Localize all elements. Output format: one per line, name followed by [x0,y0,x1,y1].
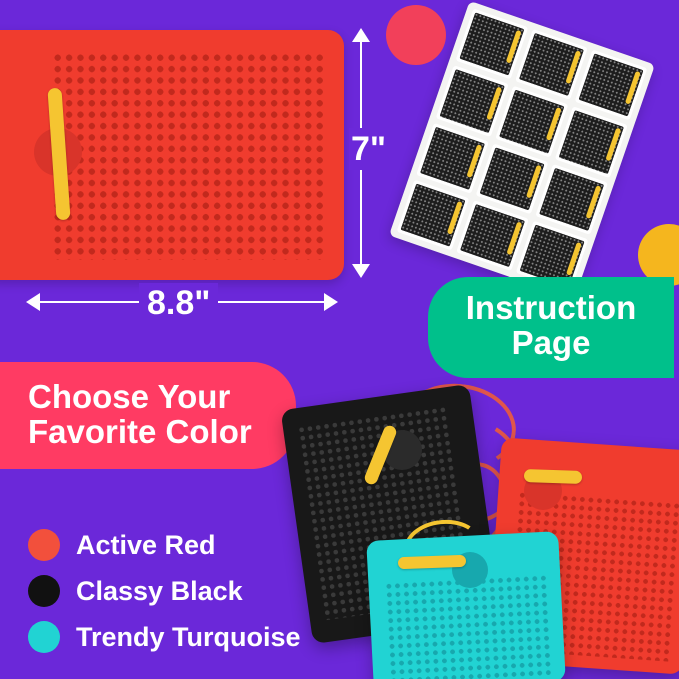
dimension-width-label: 8.8" [139,283,218,324]
color-legend: Active Red Classy Black Trendy Turquoise [28,522,301,660]
swatch-active-red [28,529,60,561]
legend-item-trendy-turquoise: Trendy Turquoise [28,614,301,660]
legend-label: Trendy Turquoise [76,622,301,653]
instruction-page-badge: Instruction Page [428,277,674,378]
instruction-card [555,106,628,177]
decorative-circle-red [386,5,446,65]
dimension-arrow-right [324,293,338,311]
swatch-trendy-turquoise [28,621,60,653]
instruction-card [476,143,549,214]
dimension-arrow-down [352,264,370,278]
legend-label: Active Red [76,530,216,561]
instruction-card [495,86,568,157]
dimension-height-label: 7" [349,128,388,170]
choose-color-badge: Choose Your Favorite Color [0,362,296,469]
instruction-card [535,163,608,234]
swatch-classy-black [28,575,60,607]
legend-item-classy-black: Classy Black [28,568,301,614]
instruction-card [436,65,509,136]
magnetic-stylus-pen-teal [398,555,466,569]
product-infographic: 7" 8.8" Instruction Page Choose Your Fav… [0,0,679,679]
legend-item-active-red: Active Red [28,522,301,568]
instruction-card [397,179,470,250]
legend-label: Classy Black [76,576,243,607]
magnetic-dot-grid [384,574,551,679]
instruction-card [456,200,529,271]
magnetic-dot-grid [52,52,324,260]
magnetic-stylus-pen-red [524,469,582,484]
instruction-card [416,122,489,193]
